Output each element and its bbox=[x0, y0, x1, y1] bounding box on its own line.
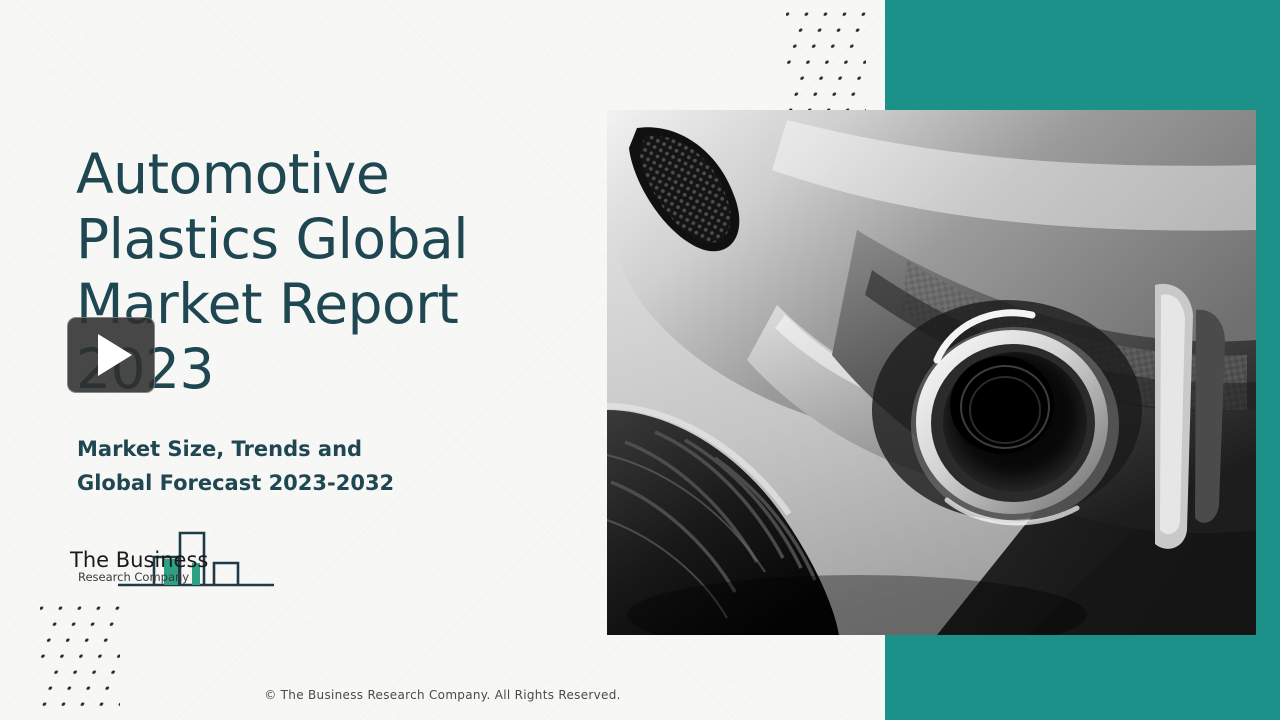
play-button[interactable] bbox=[67, 317, 155, 393]
copyright-text: © The Business Research Company. All Rig… bbox=[0, 688, 885, 702]
footer: © The Business Research Company. All Rig… bbox=[0, 688, 885, 702]
logo-secondary-text: Research Company bbox=[78, 570, 189, 584]
subtitle-text: Market Size, Trends and Global Forecast … bbox=[77, 432, 517, 500]
play-icon bbox=[98, 334, 132, 376]
logo-primary-text: The Business bbox=[69, 548, 208, 572]
hero-photo: Black and white close-up photograph of a… bbox=[607, 110, 1256, 635]
company-logo: The Business Research Company bbox=[68, 523, 283, 595]
slide-canvas: Black and white close-up photograph of a… bbox=[0, 0, 1280, 720]
dot-pattern-top-right bbox=[786, 12, 866, 120]
page-subtitle: Market Size, Trends and Global Forecast … bbox=[77, 432, 517, 500]
